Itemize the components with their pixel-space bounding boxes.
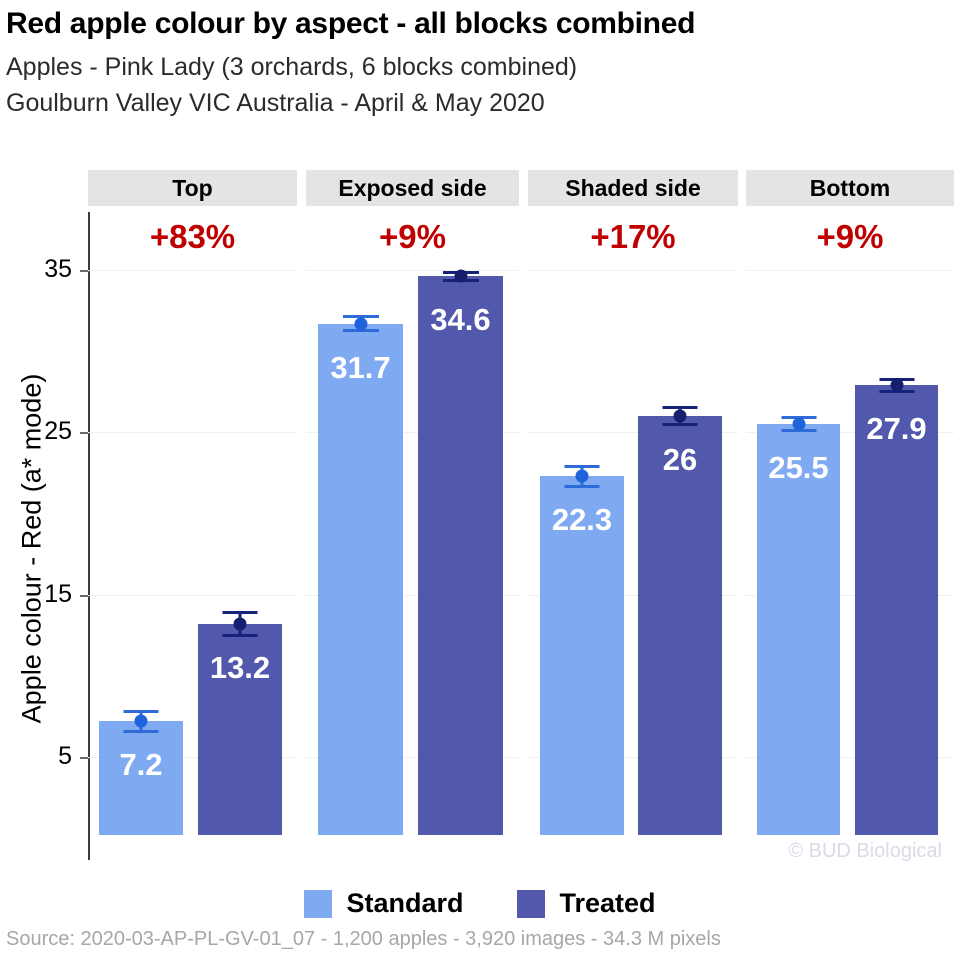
error-bar	[418, 271, 503, 282]
facet-panel: 25.527.9	[746, 212, 954, 860]
bar-value-label: 13.2	[198, 652, 282, 683]
mean-point-marker	[576, 470, 589, 483]
facet-strip-label: Exposed side	[306, 170, 519, 206]
watermark: © BUD Biological	[788, 840, 942, 863]
error-bar	[638, 406, 722, 425]
mean-point-marker	[354, 317, 367, 330]
source-caption: Source: 2020-03-AP-PL-GV-01_07 - 1,200 a…	[6, 928, 721, 951]
legend-color-swatch	[304, 890, 332, 918]
mean-point-marker	[674, 410, 687, 423]
bar-value-label: 25.5	[757, 452, 840, 483]
error-bar	[757, 416, 840, 432]
bar-value-label: 34.6	[418, 304, 503, 335]
legend-label: Treated	[559, 888, 655, 919]
y-axis-tick-label: 5	[20, 744, 72, 769]
bar-treated: 26	[638, 416, 722, 835]
bar-treated: 13.2	[198, 624, 282, 835]
legend-color-swatch	[517, 890, 545, 918]
mean-point-marker	[792, 418, 805, 431]
y-axis-tick-label: 35	[20, 257, 72, 282]
error-bar	[540, 465, 624, 488]
legend-item[interactable]: Standard	[304, 888, 463, 919]
mean-point-marker	[454, 270, 467, 283]
facet-panel: 22.326	[528, 212, 738, 860]
mean-point-marker	[234, 617, 247, 630]
mean-point-marker	[890, 379, 903, 392]
facet-strip-label: Bottom	[746, 170, 954, 206]
bar-value-label: 22.3	[540, 504, 624, 535]
mean-point-marker	[135, 715, 148, 728]
facet-panel: 7.213.2	[88, 212, 297, 860]
error-bar	[318, 315, 403, 331]
error-bar	[855, 378, 938, 393]
bar-value-label: 27.9	[855, 413, 938, 444]
bar-value-label: 31.7	[318, 352, 403, 383]
y-axis-tick-label: 15	[20, 582, 72, 607]
bar-standard: 7.2	[99, 721, 183, 835]
bar-value-label: 26	[638, 444, 722, 475]
facet-strip-label: Shaded side	[528, 170, 738, 206]
legend-item[interactable]: Treated	[517, 888, 655, 919]
chart-legend: StandardTreated	[0, 888, 960, 919]
bar-value-label: 7.2	[99, 749, 183, 780]
facet-panel: 31.734.6	[306, 212, 519, 860]
bar-standard: 22.3	[540, 476, 624, 835]
chart-plot-area: Apple colour - Red (a* mode) 5152535 Top…	[0, 0, 960, 960]
error-bar	[99, 710, 183, 733]
legend-label: Standard	[346, 888, 463, 919]
bar-standard: 31.7	[318, 324, 403, 835]
facet-strip-label: Top	[88, 170, 297, 206]
bar-treated: 27.9	[855, 385, 938, 835]
error-bar	[198, 611, 282, 637]
y-axis-tick-label: 25	[20, 419, 72, 444]
bar-treated: 34.6	[418, 276, 503, 835]
bar-standard: 25.5	[757, 424, 840, 835]
